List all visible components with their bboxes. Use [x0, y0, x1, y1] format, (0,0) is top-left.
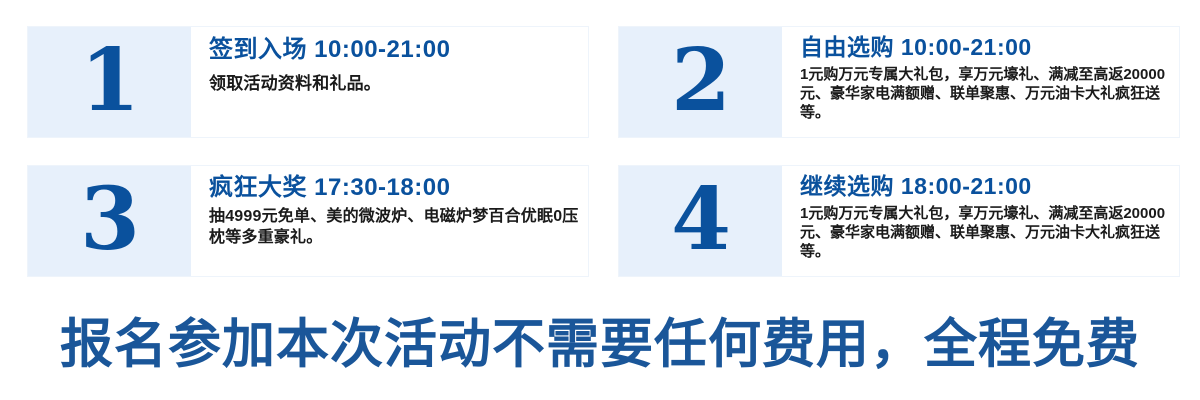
step-content-2: 自由选购 10:00-21:00 1元购万元专属大礼包，享万元壕礼、满减至高返2… — [782, 27, 1179, 137]
step-number-2: 2 — [671, 42, 730, 119]
step-title-4: 继续选购 18:00-21:00 — [800, 173, 1173, 200]
step-card-grid: 1 签到入场 10:00-21:00 领取活动资料和礼品。 2 自由选购 10:… — [27, 26, 1180, 277]
step-number-4: 4 — [671, 181, 730, 258]
step-description-2: 1元购万元专属大礼包，享万元壕礼、满减至高返20000元、豪华家电满额赠、联单聚… — [800, 66, 1173, 123]
promo-schedule-page: 1 签到入场 10:00-21:00 领取活动资料和礼品。 2 自由选购 10:… — [0, 0, 1200, 400]
step-number-panel-2: 2 — [619, 27, 782, 137]
free-participation-banner: 报名参加本次活动不需要任何费用，全程免费 — [0, 303, 1200, 385]
step-number-panel-1: 1 — [28, 27, 191, 137]
step-number-1: 1 — [80, 42, 139, 119]
step-card-3: 3 疯狂大奖 17:30-18:00 抽4999元免单、美的微波炉、电磁炉梦百合… — [27, 165, 589, 277]
step-content-3: 疯狂大奖 17:30-18:00 抽4999元免单、美的微波炉、电磁炉梦百合优眠… — [191, 166, 588, 276]
step-description-4: 1元购万元专属大礼包，享万元壕礼、满减至高返20000元、豪华家电满额赠、联单聚… — [800, 205, 1173, 262]
step-content-1: 签到入场 10:00-21:00 领取活动资料和礼品。 — [191, 27, 588, 137]
step-title-2: 自由选购 10:00-21:00 — [800, 34, 1173, 61]
step-number-3: 3 — [80, 181, 139, 258]
step-card-2: 2 自由选购 10:00-21:00 1元购万元专属大礼包，享万元壕礼、满减至高… — [618, 26, 1180, 138]
step-card-1: 1 签到入场 10:00-21:00 领取活动资料和礼品。 — [27, 26, 589, 138]
step-number-panel-4: 4 — [619, 166, 782, 276]
step-title-3: 疯狂大奖 17:30-18:00 — [209, 174, 582, 202]
step-number-panel-3: 3 — [28, 166, 191, 276]
step-description-1: 领取活动资料和礼品。 — [209, 73, 582, 95]
step-card-4: 4 继续选购 18:00-21:00 1元购万元专属大礼包，享万元壕礼、满减至高… — [618, 165, 1180, 277]
step-content-4: 继续选购 18:00-21:00 1元购万元专属大礼包，享万元壕礼、满减至高返2… — [782, 166, 1179, 276]
banner-text: 报名参加本次活动不需要任何费用，全程免费 — [60, 318, 1140, 371]
step-description-3: 抽4999元免单、美的微波炉、电磁炉梦百合优眠0压枕等多重豪礼。 — [209, 207, 582, 249]
step-title-1: 签到入场 10:00-21:00 — [209, 36, 582, 64]
